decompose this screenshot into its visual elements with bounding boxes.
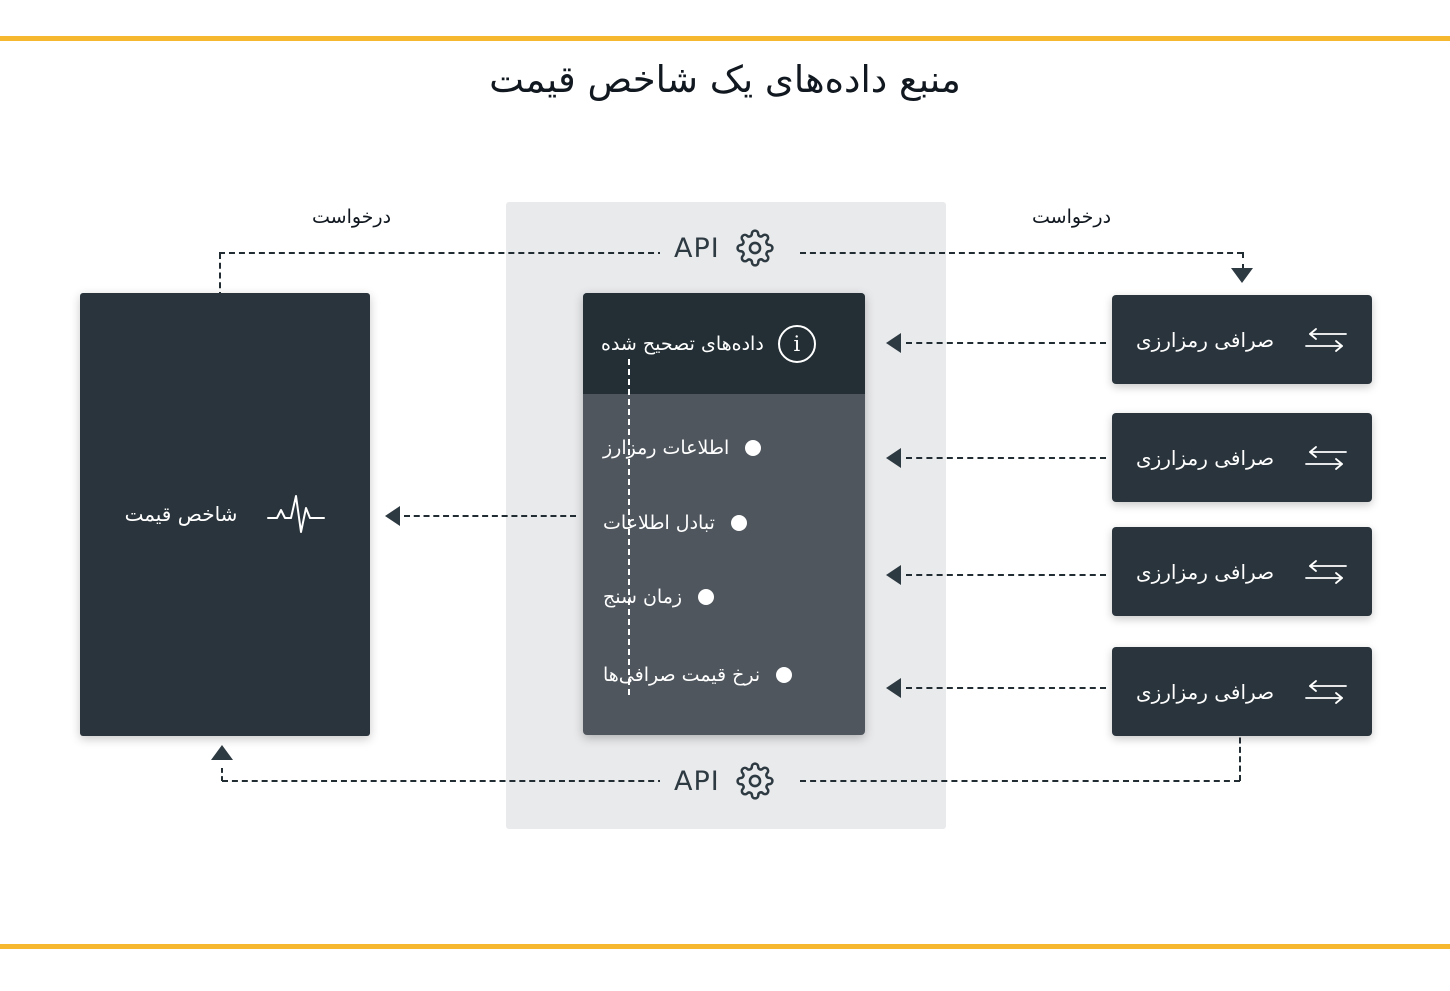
arrowhead-from-exchange-1 xyxy=(886,448,901,468)
bullet-icon xyxy=(731,515,747,531)
corrected-data-card[interactable]: داده‌های تصحیح شده i اطلاعات رمزارز تباد… xyxy=(583,293,865,735)
edge-bottom-left-riser xyxy=(221,768,223,781)
card-item-label: نرخ قیمت صرافی‌ها xyxy=(603,666,760,685)
swap-icon xyxy=(1304,443,1348,473)
bullet-icon xyxy=(745,440,761,456)
arrowhead-from-exchange-0 xyxy=(886,333,901,353)
gear-icon xyxy=(736,229,774,267)
edge-bottom-right-horizontal xyxy=(800,780,1240,782)
edge-exchange-3-to-card xyxy=(906,687,1106,689)
exchange-node[interactable]: صرافی رمزارزی xyxy=(1112,295,1372,384)
arrowhead-from-exchange-3 xyxy=(886,678,901,698)
price-index-label: شاخص قیمت xyxy=(125,502,238,526)
card-list-item[interactable]: اطلاعات رمزارز xyxy=(603,433,845,463)
edge-top-left-horizontal xyxy=(219,252,674,254)
swap-icon xyxy=(1304,677,1348,707)
swap-icon xyxy=(1304,557,1348,587)
edge-exchange-2-to-card xyxy=(906,574,1106,576)
exchange-label: صرافی رمزارزی xyxy=(1136,560,1274,584)
pulse-icon xyxy=(267,492,325,536)
swap-icon xyxy=(1304,325,1348,355)
arrowhead-to-exchange-0 xyxy=(1231,268,1253,283)
api-node-top[interactable]: API xyxy=(660,225,788,271)
exchange-node[interactable]: صرافی رمزارزی xyxy=(1112,527,1372,616)
arrowhead-to-price-index xyxy=(385,506,400,526)
bottom-accent-rule xyxy=(0,944,1450,949)
card-item-label: تبادل اطلاعات xyxy=(603,514,715,533)
bullet-icon xyxy=(698,589,714,605)
api-label-top: API xyxy=(674,235,720,262)
edge-top-left-riser xyxy=(219,253,221,298)
card-item-label: زمان سنج xyxy=(603,588,682,607)
top-accent-rule xyxy=(0,36,1450,41)
api-label-bottom: API xyxy=(674,768,720,795)
card-list-item[interactable]: زمان سنج xyxy=(603,582,845,612)
card-header-label: داده‌های تصحیح شده xyxy=(601,335,764,354)
gear-icon xyxy=(736,762,774,800)
card-header: داده‌های تصحیح شده i xyxy=(583,293,865,394)
bullet-icon xyxy=(776,667,792,683)
info-icon-glyph: i xyxy=(793,334,800,355)
edge-exchange-0-to-card xyxy=(906,342,1106,344)
edge-label-request-right: درخواست xyxy=(1032,206,1111,228)
price-index-node[interactable]: شاخص قیمت xyxy=(80,293,370,736)
info-icon: i xyxy=(778,325,816,363)
arrowhead-to-price-index-bottom xyxy=(211,745,233,760)
card-item-label: اطلاعات رمزارز xyxy=(603,439,729,458)
exchange-node[interactable]: صرافی رمزارزی xyxy=(1112,413,1372,502)
price-index-content: شاخص قیمت xyxy=(80,489,370,539)
exchange-label: صرافی رمزارزی xyxy=(1136,446,1274,470)
arrowhead-from-exchange-2 xyxy=(886,565,901,585)
edge-bottom-left-horizontal xyxy=(222,780,674,782)
edge-card-to-price-index xyxy=(404,515,576,517)
card-list-item[interactable]: تبادل اطلاعات xyxy=(603,508,845,538)
exchange-label: صرافی رمزارزی xyxy=(1136,328,1274,352)
page-title: منبع داده‌های یک شاخص قیمت xyxy=(0,58,1450,101)
card-list-item[interactable]: نرخ قیمت صرافی‌ها xyxy=(603,660,845,690)
exchange-node[interactable]: صرافی رمزارزی xyxy=(1112,647,1372,736)
exchange-label: صرافی رمزارزی xyxy=(1136,680,1274,704)
card-header-row: داده‌های تصحیح شده i xyxy=(601,323,847,365)
edge-label-request-left: درخواست xyxy=(312,206,391,228)
edge-exchange-1-to-card xyxy=(906,457,1106,459)
edge-top-right-horizontal xyxy=(800,252,1243,254)
api-node-bottom[interactable]: API xyxy=(660,758,788,804)
